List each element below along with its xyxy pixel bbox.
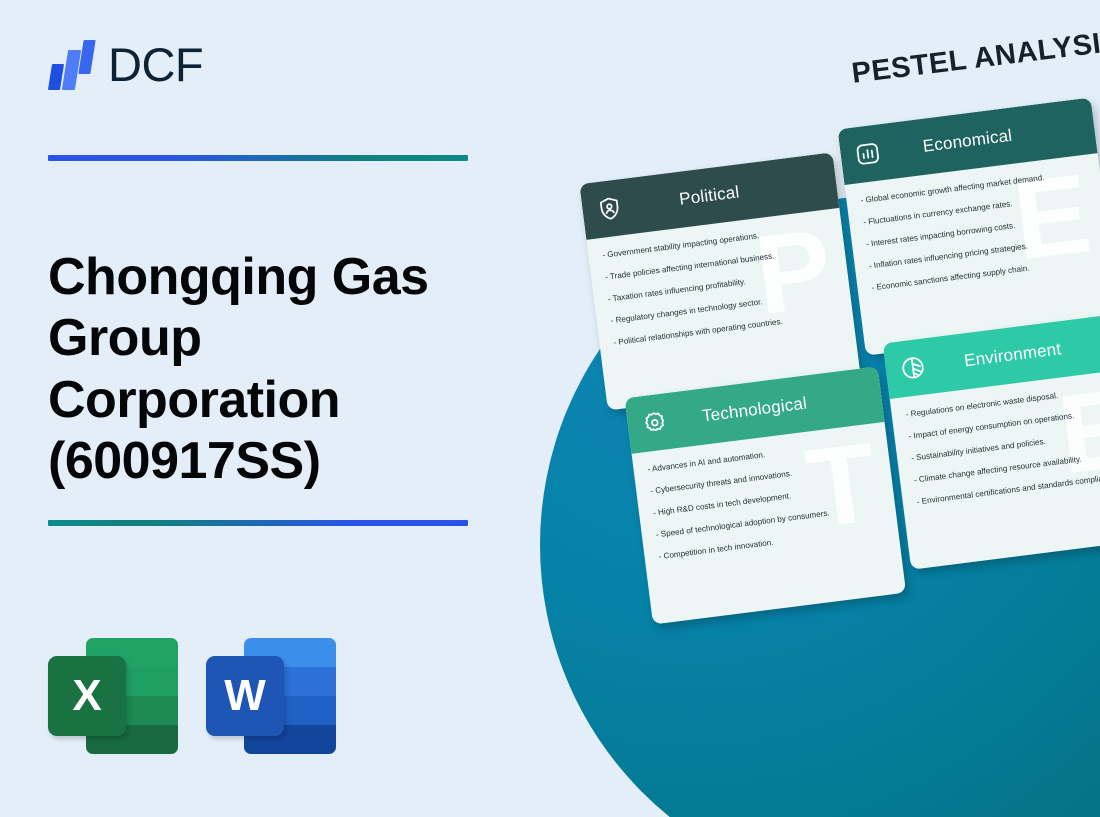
excel-icon[interactable]: X [48,630,178,762]
card-political-title: Political [678,182,740,209]
page-title: Chongqing Gas Group Corporation (600917S… [48,247,488,492]
gear-icon [640,408,669,437]
leaf-icon [898,353,927,382]
word-letter: W [206,656,284,736]
card-environment-title: Environment [963,339,1062,371]
card-economical-bullets: Global economic growth affecting market … [860,169,1097,293]
card-environment[interactable]: Environment E Regulations on electronic … [883,312,1100,570]
word-icon[interactable]: W [206,630,336,762]
shield-person-icon [595,194,624,223]
card-environment-body: E Regulations on electronic waste dispos… [890,367,1100,570]
card-political[interactable]: Political P Government stability impacti… [579,152,861,410]
card-environment-bullets: Regulations on electronic waste disposal… [905,383,1100,507]
card-economical[interactable]: Economical E Global economic growth affe… [838,98,1100,356]
divider-bottom [48,520,468,526]
poster-canvas: DCF Chongqing Gas Group Corporation (600… [0,0,1100,817]
pestel-card-grid: Political P Government stability impacti… [577,97,1100,628]
card-economical-title: Economical [922,126,1014,157]
card-technological-bullets: Advances in AI and automation. Cybersecu… [647,438,884,562]
brand-name: DCF [108,41,203,88]
card-technological[interactable]: Technological T Advances in AI and autom… [625,366,907,624]
pestel-analysis-title: PESTEL ANALYSIS [850,25,1100,91]
dcf-bars-logo [48,38,94,90]
bar-chart-icon [853,139,882,168]
excel-letter: X [48,656,126,736]
card-technological-body: T Advances in AI and automation. Cyberse… [632,422,907,625]
card-political-bullets: Government stability impacting operation… [602,224,839,348]
office-icons: X W [48,630,336,762]
brand-logo: DCF [48,38,203,90]
divider-top [48,155,468,161]
card-technological-title: Technological [701,394,808,427]
